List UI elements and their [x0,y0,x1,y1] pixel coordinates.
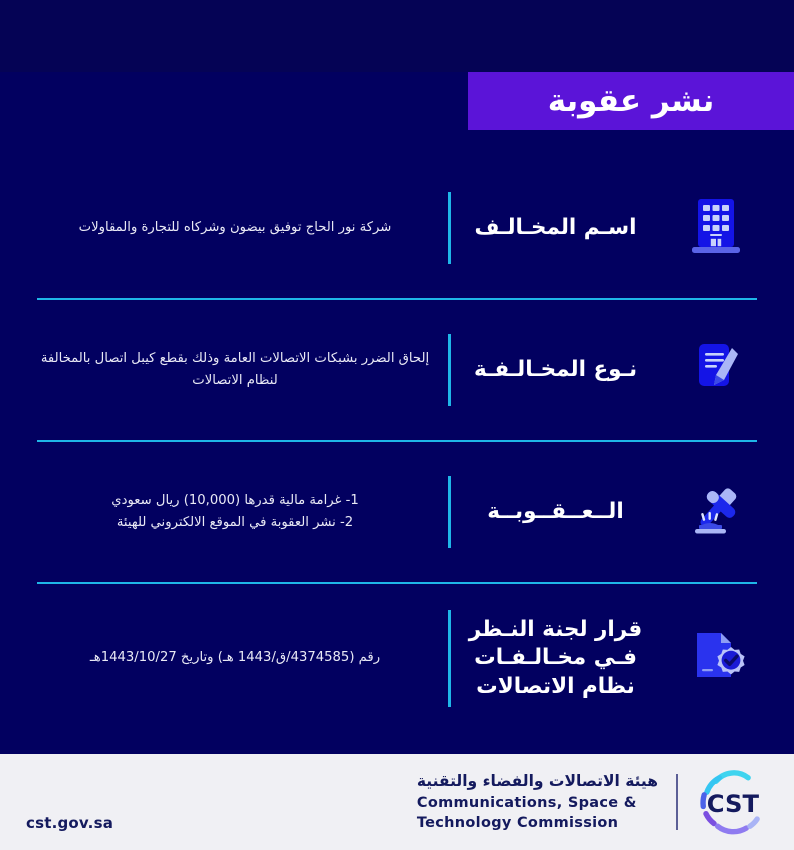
row-icon-cell [660,337,772,403]
row-label-cell: نـوع المخـالـفـة [448,334,660,406]
row-spacer [22,548,772,582]
row-value-cell: إلحاق الضرر بشبكات الاتصالات العامة وذلك… [22,342,448,399]
document-verified-icon [685,625,747,693]
row-label-cell: قرار لجنة النـظر فـي مخـالـفـات نظام الا… [448,610,660,707]
footer: CST هيئة الاتصالات والفضاء والتقنية Comm… [0,754,794,850]
top-strip [0,0,794,72]
table-row: قرار لجنة النـظر فـي مخـالـفـات نظام الا… [22,610,772,707]
row-spacer [22,300,772,334]
banner-row: نشر عقوبة [0,72,794,130]
table-row: نـوع المخـالـفـة إلحاق الضرر بشبكات الات… [22,334,772,406]
page-title: نشر عقوبة [548,86,715,117]
cst-logo-text: CST [707,790,760,818]
org-name-en-line1: Communications, Space & [417,793,658,814]
row-value-cell: 1- غرامة مالية قدرها (10,000) ريال سعودي… [22,484,448,541]
row-value: شركة نور الحاج توفيق بيضون وشركاه للتجار… [79,217,392,239]
row-spacer [22,442,772,476]
building-icon [686,195,746,261]
row-value-cell: رقم (4374585/ق/1443 هـ) وتاريخ 1443/10/2… [22,641,448,675]
table-row: الــعــقــوبــة 1- غرامة مالية قدرها (10… [22,476,772,548]
org-name-ar: هيئة الاتصالات والفضاء والتقنية [417,770,658,792]
gavel-icon [685,479,747,545]
row-icon-cell [660,195,772,261]
footer-url-area: cst.gov.sa [26,754,113,850]
row-value: 1- غرامة مالية قدرها (10,000) ريال سعودي… [111,490,359,535]
row-label: الــعــقــوبــة [487,498,623,526]
row-value: إلحاق الضرر بشبكات الاتصالات العامة وذلك… [41,348,429,393]
document-pen-icon [686,337,746,403]
website-url[interactable]: cst.gov.sa [26,814,113,832]
row-icon-cell [660,479,772,545]
org-name-en-line2: Technology Commission [417,813,658,834]
penalty-publication-card: نشر عقوبة [0,0,794,850]
penalty-banner: نشر عقوبة [468,72,794,130]
row-spacer [22,584,772,610]
row-spacer [22,406,772,440]
footer-org-names: هيئة الاتصالات والفضاء والتقنية Communic… [417,770,658,834]
row-icon-cell [660,625,772,693]
row-label: اسـم المخـالـف [475,214,637,242]
row-label-cell: الــعــقــوبــة [448,476,660,548]
row-value: رقم (4374585/ق/1443 هـ) وتاريخ 1443/10/2… [90,647,380,669]
row-value-cell: شركة نور الحاج توفيق بيضون وشركاه للتجار… [22,211,448,245]
row-label-cell: اسـم المخـالـف [448,192,660,264]
row-label: قرار لجنة النـظر فـي مخـالـفـات نظام الا… [469,616,642,701]
footer-divider [676,774,678,830]
cst-logo-icon: CST [696,767,768,837]
top-spacer [22,130,772,192]
footer-brand: CST هيئة الاتصالات والفضاء والتقنية Comm… [417,767,768,837]
content-area: اسـم المخـالـف شركة نور الحاج توفيق بيضو… [0,130,794,754]
row-spacer [22,264,772,298]
row-label: نـوع المخـالـفـة [474,356,637,384]
table-row: اسـم المخـالـف شركة نور الحاج توفيق بيضو… [22,192,772,264]
